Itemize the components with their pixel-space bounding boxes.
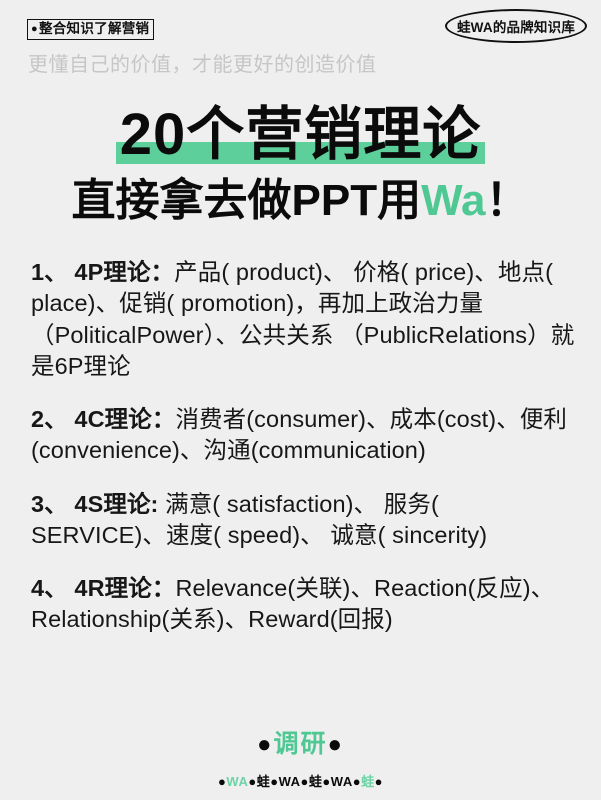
list-item: 3、 4S理论: 满意( satisfaction)、 服务( SERVICE)… — [31, 489, 579, 552]
brand-badge: 蛙WA的品牌知识库 — [445, 9, 587, 43]
bullet-icon: ● — [248, 774, 256, 789]
list-item: 2、 4C理论：消费者(consumer)、成本(cost)、便利(conven… — [31, 404, 579, 467]
kicker-badge: ●整合知识了解营销 — [27, 19, 154, 40]
kicker-label: 整合知识了解营销 — [39, 21, 149, 36]
bullet-icon: ● — [328, 731, 345, 758]
footer-brand-token: WA — [331, 774, 353, 789]
list-item-lead: 3、 4S理论: — [31, 491, 165, 517]
bullet-icon: ● — [31, 23, 38, 35]
footer-brand-token: 蛙 — [257, 774, 271, 789]
list-item-lead: 2、 4C理论： — [31, 406, 175, 432]
list-item-lead: 1、 4P理论： — [31, 259, 174, 285]
footer-brand-token: 蛙 — [361, 774, 375, 789]
tagline: 更懂自己的价值，才能更好的创造价值 — [28, 48, 377, 77]
bullet-icon: ● — [322, 774, 330, 789]
subtitle-accent-text: Wa — [421, 176, 485, 225]
footer-brand-strip: ●WA●蛙●WA●蛙●WA●蛙● — [0, 775, 601, 788]
page-header: ●整合知识了解营销 更懂自己的价值，才能更好的创造价值 蛙WA的品牌知识库 — [0, 0, 601, 100]
page-footer: ●调研● ●WA●蛙●WA●蛙●WA●蛙● — [0, 732, 601, 788]
bullet-icon: ● — [353, 774, 361, 789]
footer-brand-token: WA — [226, 774, 248, 789]
footer-label-row: ●调研● — [0, 732, 601, 757]
page-title: 20个营销理论 — [114, 106, 488, 164]
list-item: 1、 4P理论：产品( product)、 价格( price)、地点( pla… — [31, 257, 579, 382]
list-item: 4、 4R理论：Relevance(关联)、Reaction(反应)、Relat… — [31, 573, 579, 636]
subtitle-text: 直接拿去做PPT用 — [72, 176, 422, 225]
footer-brand-token: WA — [279, 774, 301, 789]
footer-label: 调研 — [273, 730, 327, 758]
bullet-icon: ● — [301, 774, 309, 789]
subtitle-tail: ！ — [485, 176, 529, 225]
theory-list: 1、 4P理论：产品( product)、 价格( price)、地点( pla… — [0, 257, 601, 636]
list-item-lead: 4、 4R理论： — [31, 575, 175, 601]
page-title-text: 20个营销理论 — [120, 102, 482, 167]
title-block: 20个营销理论 直接拿去做PPT用Wa！ — [0, 106, 601, 223]
bullet-icon: ● — [270, 774, 278, 789]
bullet-icon: ● — [257, 731, 274, 758]
bullet-icon: ● — [375, 774, 383, 789]
page-subtitle: 直接拿去做PPT用Wa！ — [0, 179, 601, 223]
footer-brand-token: 蛙 — [309, 774, 323, 789]
